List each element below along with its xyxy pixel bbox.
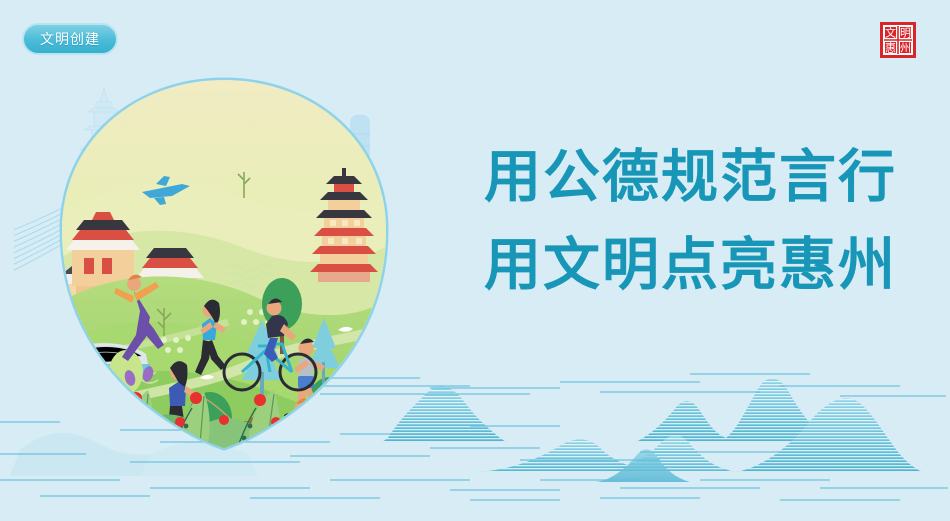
huizhou-city-life-illustration xyxy=(14,72,434,472)
illustration-svg xyxy=(14,72,434,472)
seal-char-4: 州 xyxy=(900,41,911,54)
seal-char-1: 文 xyxy=(885,25,896,39)
headline-line-1: 用公德规范言行 xyxy=(484,144,897,210)
headline: 用公德规范言行 用文明点亮惠州 xyxy=(484,133,904,309)
poster-canvas: 文明创建 文 明 惠 州 用公德规范言行 用文明点亮惠州 xyxy=(0,0,950,521)
badge-label: 文明创建 xyxy=(40,29,100,49)
seal-icon: 文 明 惠 州 xyxy=(880,22,916,58)
civilization-creation-badge[interactable]: 文明创建 xyxy=(22,23,118,55)
bench-reader xyxy=(293,398,354,456)
headline-line-2: 用文明点亮惠州 xyxy=(484,221,904,309)
seal-char-2: 明 xyxy=(900,26,911,39)
civilized-huizhou-seal: 文 明 惠 州 xyxy=(880,22,916,58)
seal-char-3: 惠 xyxy=(885,40,896,54)
illustration-scene xyxy=(54,72,394,472)
